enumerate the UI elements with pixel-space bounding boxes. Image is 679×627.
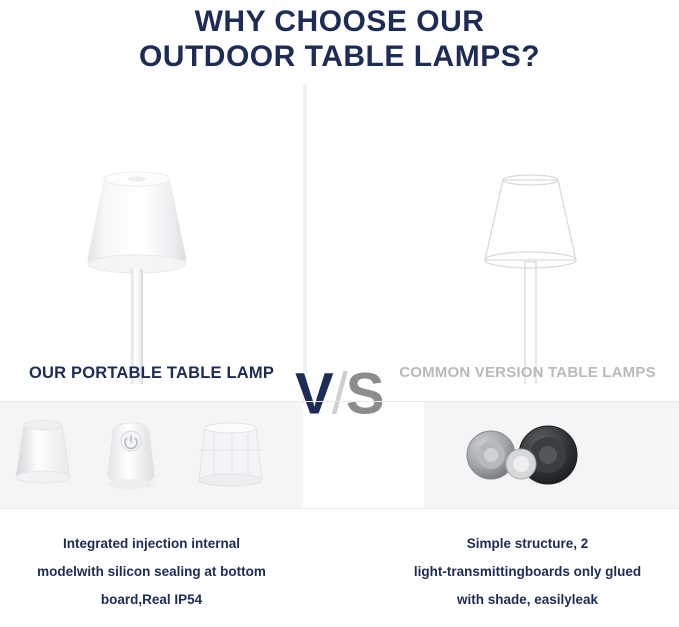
common-lamp-illustration [307,84,679,384]
description-our-lamp-line-2: modelwith silicon sealing at bottom [0,558,303,586]
label-common-lamp: COMMON VERSION TABLE LAMPS [376,364,679,381]
page-title: WHY CHOOSE OUR OUTDOOR TABLE LAMPS? [0,0,679,75]
common-components-photo [424,402,679,508]
description-common-lamp: Simple structure, 2 light-transmittingbo… [376,509,679,614]
page-title-line-2: OUTDOOR TABLE LAMPS? [0,39,679,74]
page-title-line-1: WHY CHOOSE OUR [0,4,679,39]
components-row [0,402,679,508]
description-common-lamp-line-1: Simple structure, 2 [376,530,679,558]
our-components-photo [0,402,303,508]
description-our-lamp-line-3: board,Real IP54 [0,586,303,614]
product-labels: OUR PORTABLE TABLE LAMP COMMON VERSION T… [0,364,679,394]
comparison-images: V/S [0,84,679,404]
label-our-lamp: OUR PORTABLE TABLE LAMP [0,364,303,383]
our-lamp-photo [0,84,303,384]
descriptions-row: Integrated injection internal modelwith … [0,509,679,627]
description-common-lamp-line-2: light-transmittingboards only glued [376,558,679,586]
comparison-infographic: WHY CHOOSE OUR OUTDOOR TABLE LAMPS? [0,0,679,627]
description-common-lamp-line-3: with shade, easilyleak [376,586,679,614]
description-our-lamp-line-1: Integrated injection internal [0,530,303,558]
description-our-lamp: Integrated injection internal modelwith … [0,509,303,614]
